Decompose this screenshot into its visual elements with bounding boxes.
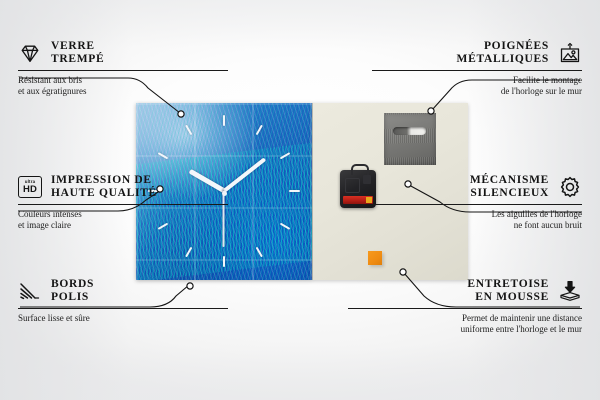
callout-header: ultra HD IMPRESSION DE HAUTE QUALITÉ (18, 174, 228, 200)
metal-hanger-plate (384, 113, 436, 165)
battery (343, 196, 373, 204)
diamond-icon (18, 41, 42, 65)
callout-header: POIGNÉES MÉTALLIQUES (372, 40, 582, 66)
clock-tick (223, 256, 225, 267)
callout-description: Permet de maintenir une distance uniform… (348, 313, 582, 335)
clock-tick (289, 190, 300, 192)
infographic-canvas: VERRE TREMPÉ Résistant aux bris et aux é… (0, 0, 600, 400)
callout-description: Les aiguilles de l'horloge ne font aucun… (372, 209, 582, 231)
polished-edges-icon (18, 279, 42, 303)
callout-divider (372, 204, 582, 205)
callout-entretoise-en-mousse: ENTRETOISE EN MOUSSE Permet de maintenir… (348, 278, 582, 335)
mechanism-detail (345, 178, 360, 193)
callout-header: BORDS POLIS (18, 278, 228, 304)
callout-divider (348, 308, 582, 309)
callout-title: MÉCANISME SILENCIEUX (470, 174, 549, 200)
foam-spacer-icon (558, 279, 582, 303)
ultra-hd-icon-main-text: HD (23, 185, 37, 195)
callout-divider (372, 70, 582, 71)
callout-title: BORDS POLIS (51, 278, 94, 304)
callout-divider (18, 204, 228, 205)
callout-verre-trempe: VERRE TREMPÉ Résistant aux bris et aux é… (18, 40, 228, 97)
callout-description: Couleurs intenses et image claire (18, 209, 228, 231)
callout-description: Facilite le montage de l'horloge sur le … (372, 75, 582, 97)
product-seam-divider (312, 103, 313, 280)
hanging-frame-icon (558, 41, 582, 65)
callout-header: MÉCANISME SILENCIEUX (372, 174, 582, 200)
callout-title: IMPRESSION DE HAUTE QUALITÉ (51, 174, 157, 200)
mechanism-detail (363, 175, 371, 184)
callout-header: VERRE TREMPÉ (18, 40, 228, 66)
ultra-hd-icon: ultra HD (18, 176, 42, 198)
callout-header: ENTRETOISE EN MOUSSE (348, 278, 582, 304)
callout-bords-polis: BORDS POLIS Surface lisse et sûre (18, 278, 228, 324)
callout-title: ENTRETOISE EN MOUSSE (467, 278, 549, 304)
callout-impression-haute-qualite: ultra HD IMPRESSION DE HAUTE QUALITÉ Cou… (18, 174, 228, 231)
callout-mecanisme-silencieux: MÉCANISME SILENCIEUX Les aiguilles de l'… (372, 174, 582, 231)
hanger-keyhole-slot (393, 127, 426, 135)
callout-divider (18, 70, 228, 71)
callout-divider (18, 308, 228, 309)
clock-tick (223, 115, 225, 126)
callout-title: VERRE TREMPÉ (51, 40, 104, 66)
callout-description: Surface lisse et sûre (18, 313, 228, 324)
clock-mechanism-box (340, 170, 376, 208)
foam-spacer-pad (368, 251, 382, 265)
callout-description: Résistant aux bris et aux égratignures (18, 75, 228, 97)
callout-poignees-metalliques: POIGNÉES MÉTALLIQUES Facilite le montage… (372, 40, 582, 97)
gear-icon (558, 175, 582, 199)
callout-title: POIGNÉES MÉTALLIQUES (457, 40, 549, 66)
mechanism-hanging-loop (351, 164, 369, 175)
